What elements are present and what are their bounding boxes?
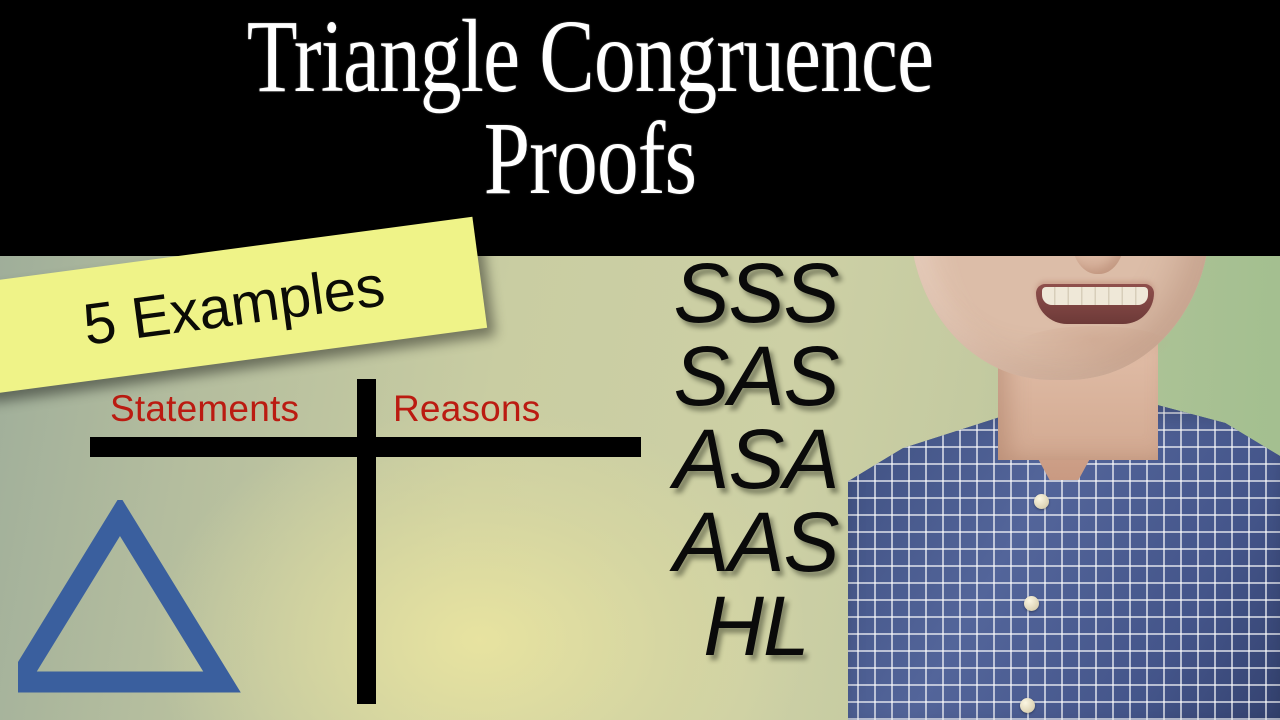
- criteria-item-sas: SAS: [636, 335, 876, 418]
- shirt-button: [1020, 698, 1035, 713]
- presenter-chin-shadow: [1014, 326, 1174, 370]
- column-header-reasons: Reasons: [393, 388, 540, 430]
- page-title: Triangle Congruence Proofs: [118, 6, 1062, 210]
- column-header-statements: Statements: [110, 388, 299, 430]
- presenter-teeth: [1042, 287, 1148, 305]
- shirt-button: [1034, 494, 1049, 509]
- video-thumbnail: Triangle Congruence Proofs Statements Re…: [0, 0, 1280, 720]
- triangle-outline-icon: [18, 500, 278, 720]
- proof-table-vertical-rule: [357, 379, 376, 704]
- shirt-button: [1024, 596, 1039, 611]
- criteria-item-asa: ASA: [636, 418, 876, 501]
- triangle-path: [18, 516, 222, 682]
- criteria-item-hl: HL: [636, 585, 876, 668]
- congruence-criteria-list: SSS SAS ASA AAS HL: [636, 252, 876, 668]
- presenter-mouth: [1036, 284, 1154, 324]
- examples-banner-label: 5 Examples: [65, 252, 388, 360]
- criteria-item-sss: SSS: [636, 252, 876, 335]
- criteria-item-aas: AAS: [636, 501, 876, 584]
